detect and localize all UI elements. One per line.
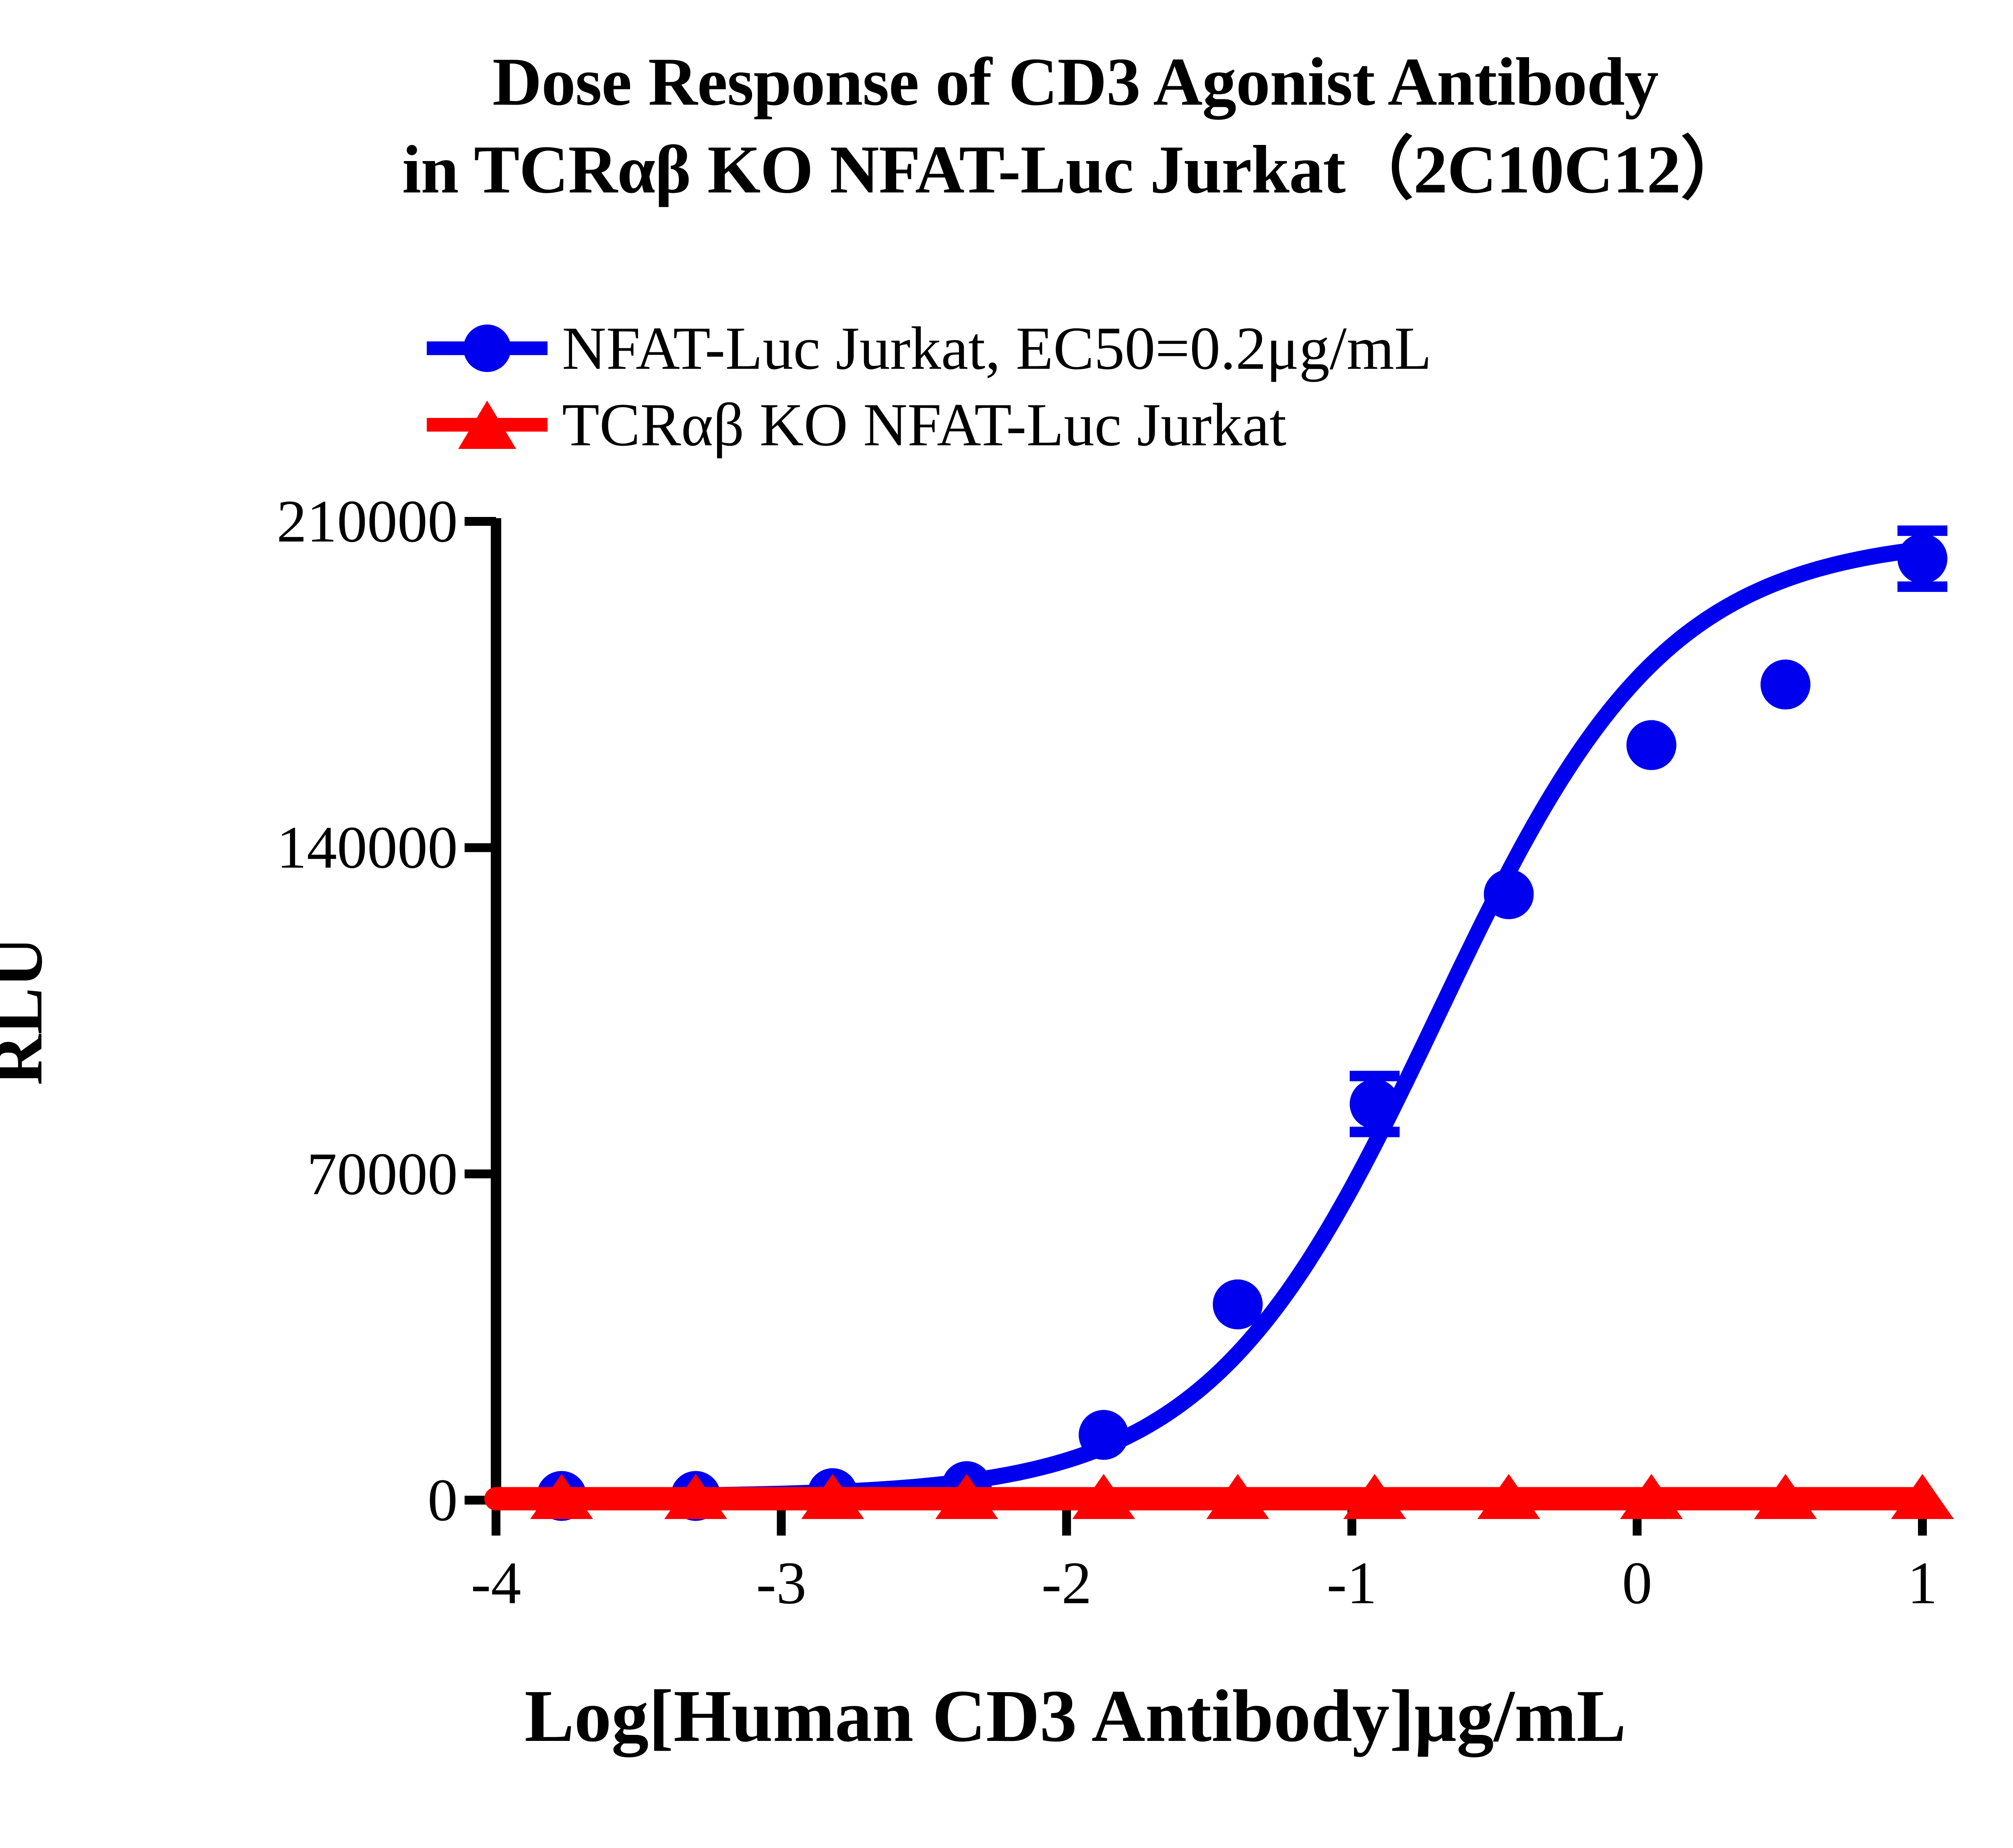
y-axis-title: RLU — [0, 936, 58, 1085]
y-tick-label: 70000 — [307, 1139, 458, 1209]
data-point-circle — [1213, 1280, 1263, 1329]
x-tick-label: 0 — [1622, 1548, 1652, 1618]
data-point-circle — [1079, 1410, 1128, 1460]
series-fit-line-1 — [496, 549, 1922, 1497]
data-point-circle — [1484, 869, 1534, 919]
x-tick-label: -4 — [471, 1548, 521, 1618]
data-point-circle — [1627, 720, 1676, 770]
y-tick-label: 140000 — [277, 813, 458, 882]
x-tick-label: 1 — [1908, 1548, 1938, 1618]
data-point-circle — [1761, 659, 1810, 709]
data-point-circle — [1350, 1079, 1399, 1129]
y-tick-label: 0 — [428, 1466, 458, 1535]
chart-figure: Dose Response of CD3 Agonist Antibody in… — [0, 0, 2013, 1848]
y-tick-label: 210000 — [277, 487, 458, 556]
x-tick-label: -2 — [1042, 1548, 1092, 1618]
x-tick-label: -3 — [756, 1548, 806, 1618]
x-tick-label: -1 — [1327, 1548, 1377, 1618]
plot-canvas — [0, 0, 2013, 1848]
data-point-circle — [1897, 534, 1947, 584]
series-layer — [496, 531, 1954, 1521]
x-axis-title: Log[Human CD3 Antibody]μg/mL — [0, 1673, 2013, 1759]
